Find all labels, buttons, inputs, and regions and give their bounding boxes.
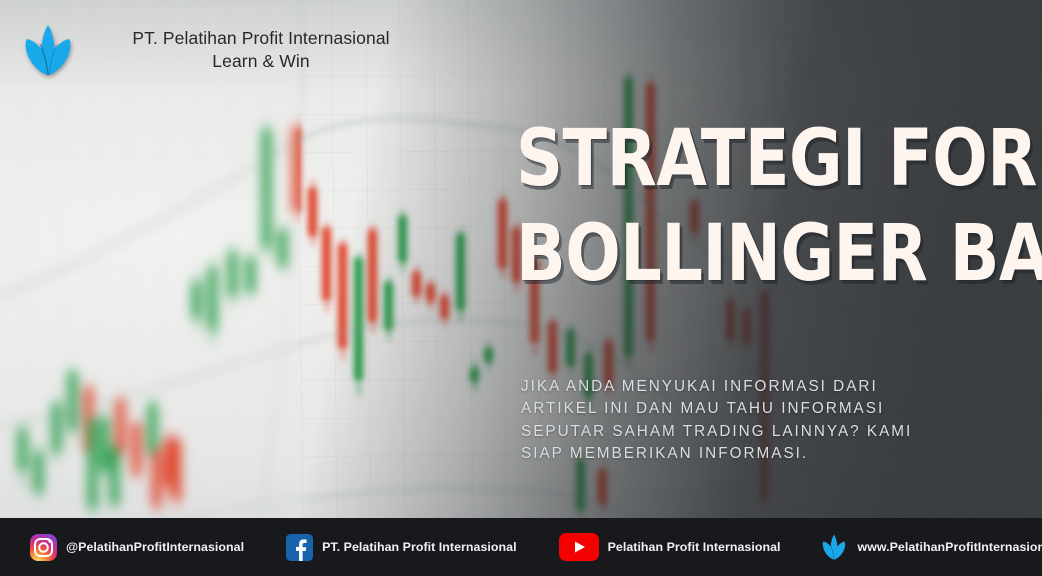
social-youtube[interactable]: Pelatihan Profit Internasional xyxy=(559,518,781,576)
body-copy-line-3: SEPUTAR SAHAM TRADING LAINNYA? KAMI xyxy=(521,421,951,443)
poster-canvas: PT. Pelatihan Profit Internasional Learn… xyxy=(0,0,1042,576)
youtube-label[interactable]: Pelatihan Profit Internasional xyxy=(608,540,781,554)
headline-line-2: BOLLINGER BAND xyxy=(516,217,981,292)
social-instagram[interactable]: @PelatihanProfitInternasional xyxy=(30,518,244,576)
company-name: PT. Pelatihan Profit Internasional xyxy=(96,27,426,50)
lotus-logo-icon xyxy=(18,22,78,78)
website-label[interactable]: www.PelatihanProfitInternasional.com xyxy=(858,540,1042,554)
headline-line-1: STRATEGI FOREX xyxy=(516,122,981,197)
instagram-label[interactable]: @PelatihanProfitInternasional xyxy=(66,540,244,554)
lotus-logo-icon[interactable] xyxy=(819,533,849,561)
body-copy-line-4: SIAP MEMBERIKAN INFORMASI. xyxy=(521,443,951,465)
body-copy-line-1: JIKA ANDA MENYUKAI INFORMASI DARI xyxy=(521,376,951,398)
brand-text-block: PT. Pelatihan Profit Internasional Learn… xyxy=(96,27,426,73)
social-facebook[interactable]: PT. Pelatihan Profit Internasional xyxy=(286,518,516,576)
header: PT. Pelatihan Profit Internasional Learn… xyxy=(0,0,560,100)
social-website[interactable]: www.PelatihanProfitInternasional.com xyxy=(819,518,1042,576)
body-copy-block: JIKA ANDA MENYUKAI INFORMASI DARI ARTIKE… xyxy=(521,376,951,466)
instagram-icon[interactable] xyxy=(30,534,57,561)
facebook-label[interactable]: PT. Pelatihan Profit Internasional xyxy=(322,540,516,554)
footer-bar: @PelatihanProfitInternasional PT. Pelati… xyxy=(0,518,1042,576)
youtube-icon[interactable] xyxy=(559,533,599,561)
company-tagline: Learn & Win xyxy=(96,50,426,73)
body-copy-line-2: ARTIKEL INI DAN MAU TAHU INFORMASI xyxy=(521,398,951,420)
facebook-icon[interactable] xyxy=(286,534,313,561)
headline-block: STRATEGI FOREX BOLLINGER BAND xyxy=(516,122,1016,292)
